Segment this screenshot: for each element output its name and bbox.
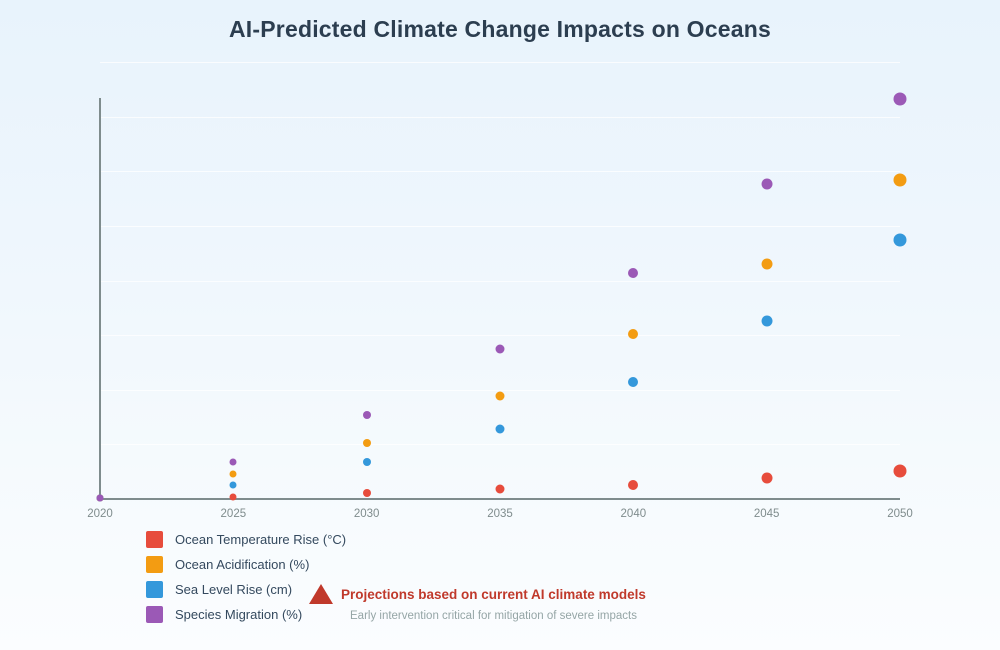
- data-point[interactable]: [230, 482, 237, 489]
- data-point[interactable]: [363, 489, 371, 497]
- x-tick-label: 2050: [887, 508, 913, 520]
- legend-swatch: [146, 556, 163, 573]
- warning-triangle-icon: [308, 583, 334, 605]
- x-tick-label: 2030: [354, 508, 380, 520]
- data-point[interactable]: [628, 329, 638, 339]
- data-point[interactable]: [894, 465, 907, 478]
- data-point[interactable]: [496, 345, 505, 354]
- data-point[interactable]: [363, 411, 371, 419]
- data-point[interactable]: [97, 495, 104, 502]
- x-tick-label: 2045: [754, 508, 780, 520]
- data-point[interactable]: [230, 494, 237, 501]
- gridline: [100, 171, 900, 172]
- legend-label: Sea Level Rise (cm): [175, 582, 292, 597]
- legend-swatch: [146, 531, 163, 548]
- gridline: [100, 117, 900, 118]
- data-point[interactable]: [363, 439, 371, 447]
- y-axis-spine: [99, 98, 101, 499]
- chart-annotation: Projections based on current AI climate …: [308, 583, 728, 622]
- data-point[interactable]: [894, 234, 907, 247]
- annotation-header: Projections based on current AI climate …: [308, 583, 728, 605]
- data-point[interactable]: [496, 392, 505, 401]
- gridline: [100, 62, 900, 63]
- data-point[interactable]: [894, 174, 907, 187]
- x-tick-label: 2035: [487, 508, 513, 520]
- chart-title: AI-Predicted Climate Change Impacts on O…: [0, 16, 1000, 43]
- data-point[interactable]: [363, 458, 371, 466]
- gridline: [100, 226, 900, 227]
- legend-label: Ocean Temperature Rise (°C): [175, 532, 346, 547]
- annotation-subtitle: Early intervention critical for mitigati…: [350, 610, 728, 622]
- data-point[interactable]: [628, 480, 638, 490]
- data-point[interactable]: [761, 259, 772, 270]
- x-tick-label: 2025: [221, 508, 247, 520]
- x-tick-label: 2020: [87, 508, 113, 520]
- data-point[interactable]: [761, 316, 772, 327]
- data-point[interactable]: [230, 471, 237, 478]
- data-point[interactable]: [496, 485, 505, 494]
- data-point[interactable]: [628, 268, 638, 278]
- legend-swatch: [146, 606, 163, 623]
- legend-item[interactable]: Ocean Temperature Rise (°C): [146, 527, 346, 552]
- chart-figure: AI-Predicted Climate Change Impacts on O…: [0, 0, 1000, 650]
- data-point[interactable]: [894, 93, 907, 106]
- gridline: [100, 335, 900, 336]
- legend-label: Ocean Acidification (%): [175, 557, 309, 572]
- data-point[interactable]: [496, 425, 505, 434]
- gridline: [100, 281, 900, 282]
- data-point[interactable]: [761, 473, 772, 484]
- legend-item[interactable]: Ocean Acidification (%): [146, 552, 346, 577]
- gridline: [100, 444, 900, 445]
- data-point[interactable]: [761, 179, 772, 190]
- legend-swatch: [146, 581, 163, 598]
- data-point[interactable]: [230, 459, 237, 466]
- annotation-title: Projections based on current AI climate …: [341, 587, 646, 602]
- legend-label: Species Migration (%): [175, 607, 302, 622]
- data-point[interactable]: [628, 377, 638, 387]
- x-tick-label: 2040: [621, 508, 647, 520]
- x-axis-spine: [100, 498, 900, 500]
